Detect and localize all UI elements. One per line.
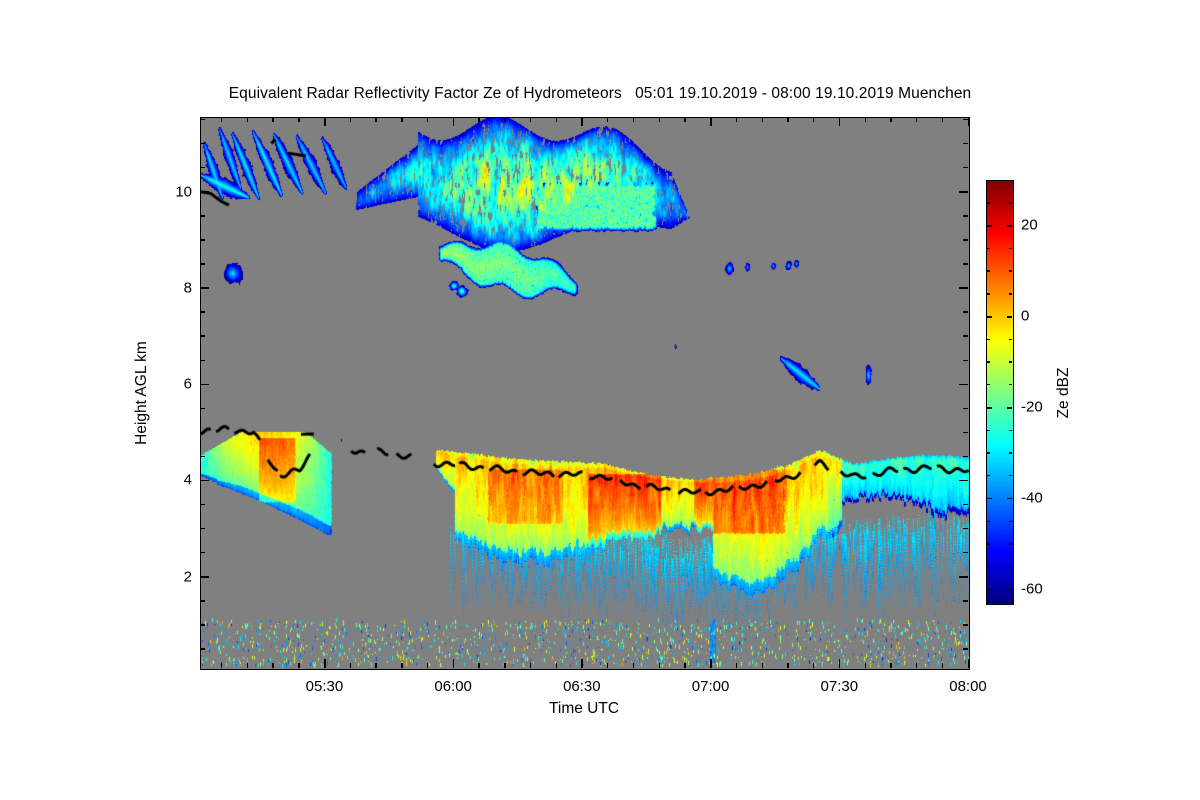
y-tick-major — [200, 384, 209, 386]
colorbar-tick-left — [987, 589, 992, 591]
y-tick-label: 6 — [184, 376, 192, 393]
colorbar-tick-left — [987, 316, 992, 318]
x-tick-minor-top — [530, 117, 531, 122]
x-tick-minor-top — [221, 117, 222, 122]
y-tick-minor-right — [963, 456, 968, 457]
colorbar-tick — [1007, 498, 1012, 500]
x-tick-minor — [659, 663, 660, 668]
colorbar-tick-minor — [1009, 430, 1012, 431]
x-tick-minor — [247, 663, 248, 668]
x-tick-minor-top — [350, 117, 351, 122]
x-tick-label: 05:30 — [306, 678, 344, 695]
colorbar-tick-minor-left — [987, 521, 990, 522]
x-tick-minor-top — [865, 117, 866, 122]
colorbar-tick-minor — [1009, 339, 1012, 340]
x-tick-minor-top — [813, 117, 814, 122]
y-tick-minor — [200, 311, 205, 312]
y-tick-minor — [200, 624, 205, 625]
colorbar-tick-label: 0 — [1021, 308, 1029, 325]
y-tick-minor — [200, 239, 205, 240]
colorbar-tick-left — [987, 498, 992, 500]
y-tick-minor-right — [963, 432, 968, 433]
y-tick-minor-right — [963, 408, 968, 409]
colorbar-tick-minor-left — [987, 180, 990, 181]
y-tick-minor-right — [963, 239, 968, 240]
x-tick-minor — [221, 663, 222, 668]
x-tick-minor-top — [710, 117, 711, 122]
x-tick-minor — [272, 663, 273, 668]
x-tick-minor-top — [324, 117, 325, 122]
colorbar-tick-minor — [1009, 521, 1012, 522]
y-tick-label: 8 — [184, 279, 192, 296]
y-tick-major-right — [959, 287, 968, 289]
y-tick-minor — [200, 215, 205, 216]
x-tick-minor — [839, 663, 840, 668]
y-tick-major — [200, 287, 209, 289]
y-tick-minor-right — [963, 648, 968, 649]
y-tick-minor — [200, 119, 205, 120]
colorbar-tick-minor — [1009, 361, 1012, 362]
x-tick-minor-top — [453, 117, 454, 122]
colorbar-tick-minor — [1009, 270, 1012, 271]
colorbar-tick-label: -60 — [1021, 581, 1043, 598]
x-tick-minor — [478, 663, 479, 668]
y-tick-minor-right — [963, 600, 968, 601]
y-tick-minor-right — [963, 504, 968, 505]
x-tick-minor — [530, 663, 531, 668]
x-tick-minor-top — [968, 117, 969, 122]
x-tick-minor-top — [839, 117, 840, 122]
colorbar-tick-minor-left — [987, 543, 990, 544]
colorbar — [986, 180, 1014, 605]
x-axis-title: Time UTC — [549, 700, 619, 718]
y-tick-minor — [200, 263, 205, 264]
x-tick-minor — [684, 663, 685, 668]
y-tick-minor-right — [963, 624, 968, 625]
y-tick-minor — [200, 167, 205, 168]
x-tick-minor-top — [375, 117, 376, 122]
colorbar-tick-minor-left — [987, 248, 990, 249]
colorbar-tick-left — [987, 407, 992, 409]
y-tick-minor — [200, 504, 205, 505]
y-tick-minor-right — [963, 143, 968, 144]
y-tick-major — [200, 191, 209, 193]
x-tick-minor — [427, 663, 428, 668]
y-tick-major — [200, 480, 209, 482]
x-tick-minor — [736, 663, 737, 668]
x-tick-minor — [324, 663, 325, 668]
x-tick-minor — [710, 663, 711, 668]
colorbar-tick-minor-left — [987, 384, 990, 385]
x-tick-minor — [556, 663, 557, 668]
x-tick-minor — [504, 663, 505, 668]
reflectivity-heatmap-canvas — [201, 118, 969, 669]
y-tick-minor — [200, 600, 205, 601]
colorbar-tick-minor — [1009, 180, 1012, 181]
y-tick-minor — [200, 648, 205, 649]
colorbar-tick-minor-left — [987, 430, 990, 431]
x-tick-minor — [453, 663, 454, 668]
colorbar-tick-minor-left — [987, 452, 990, 453]
x-tick-label: 06:30 — [563, 678, 601, 695]
colorbar-tick-minor — [1009, 475, 1012, 476]
x-tick-minor — [865, 663, 866, 668]
y-tick-minor-right — [963, 167, 968, 168]
y-tick-minor-right — [963, 263, 968, 264]
colorbar-tick — [1007, 225, 1012, 227]
radar-reflectivity-figure: Equivalent Radar Reflectivity Factor Ze … — [0, 0, 1200, 800]
x-tick-minor — [890, 663, 891, 668]
colorbar-tick-minor-left — [987, 293, 990, 294]
x-tick-minor-top — [916, 117, 917, 122]
x-tick-minor — [607, 663, 608, 668]
colorbar-tick-label: -20 — [1021, 399, 1043, 416]
colorbar-tick-left — [987, 225, 992, 227]
x-tick-minor-top — [427, 117, 428, 122]
colorbar-tick-minor — [1009, 452, 1012, 453]
y-tick-major-right — [959, 480, 968, 482]
colorbar-tick-minor — [1009, 202, 1012, 203]
chart-title: Equivalent Radar Reflectivity Factor Ze … — [0, 85, 1200, 103]
colorbar-tick-minor-left — [987, 339, 990, 340]
x-tick-minor — [813, 663, 814, 668]
x-tick-minor-top — [762, 117, 763, 122]
x-tick-label: 08:00 — [949, 678, 987, 695]
y-tick-minor-right — [963, 528, 968, 529]
colorbar-tick-minor-left — [987, 270, 990, 271]
x-tick-minor — [916, 663, 917, 668]
x-tick-minor-top — [659, 117, 660, 122]
x-tick-minor-top — [581, 117, 582, 122]
y-tick-label: 10 — [175, 183, 192, 200]
x-tick-minor-top — [942, 117, 943, 122]
colorbar-tick — [1007, 589, 1012, 591]
colorbar-tick — [1007, 316, 1012, 318]
x-tick-minor-top — [478, 117, 479, 122]
x-tick-minor — [581, 663, 582, 668]
colorbar-gradient — [987, 181, 1013, 604]
x-tick-minor-top — [787, 117, 788, 122]
x-tick-minor-top — [684, 117, 685, 122]
x-tick-minor-top — [401, 117, 402, 122]
colorbar-tick-minor — [1009, 248, 1012, 249]
colorbar-tick-minor — [1009, 384, 1012, 385]
y-tick-minor-right — [963, 335, 968, 336]
x-tick-label: 06:00 — [434, 678, 472, 695]
y-tick-major-right — [959, 576, 968, 578]
colorbar-tick-minor-left — [987, 566, 990, 567]
colorbar-tick-minor-left — [987, 475, 990, 476]
x-tick-minor — [401, 663, 402, 668]
x-tick-minor-top — [736, 117, 737, 122]
y-tick-major-right — [959, 191, 968, 193]
y-tick-minor-right — [963, 360, 968, 361]
y-tick-minor — [200, 432, 205, 433]
y-tick-label: 2 — [184, 568, 192, 585]
x-tick-minor — [787, 663, 788, 668]
y-tick-minor — [200, 143, 205, 144]
colorbar-tick-label: 20 — [1021, 217, 1038, 234]
y-axis-title: Height AGL km — [133, 341, 151, 445]
colorbar-tick-minor — [1009, 293, 1012, 294]
plot-area — [200, 117, 970, 670]
x-tick-minor-top — [247, 117, 248, 122]
x-tick-minor-top — [298, 117, 299, 122]
x-tick-minor-top — [633, 117, 634, 122]
x-tick-label: 07:30 — [821, 678, 859, 695]
colorbar-tick-label: -40 — [1021, 490, 1043, 507]
y-tick-minor-right — [963, 215, 968, 216]
x-tick-minor — [298, 663, 299, 668]
x-tick-minor — [968, 663, 969, 668]
colorbar-tick-minor-left — [987, 361, 990, 362]
x-tick-minor — [350, 663, 351, 668]
x-tick-minor — [633, 663, 634, 668]
y-tick-major-right — [959, 384, 968, 386]
x-tick-minor-top — [272, 117, 273, 122]
y-tick-minor — [200, 360, 205, 361]
y-tick-minor — [200, 408, 205, 409]
colorbar-tick — [1007, 407, 1012, 409]
x-tick-minor-top — [504, 117, 505, 122]
y-tick-minor-right — [963, 552, 968, 553]
x-tick-minor — [375, 663, 376, 668]
x-tick-label: 07:00 — [692, 678, 730, 695]
y-tick-minor — [200, 456, 205, 457]
y-tick-major — [200, 576, 209, 578]
x-tick-minor-top — [556, 117, 557, 122]
y-tick-minor-right — [963, 311, 968, 312]
x-tick-minor-top — [607, 117, 608, 122]
x-tick-minor — [762, 663, 763, 668]
y-tick-minor — [200, 528, 205, 529]
y-tick-label: 4 — [184, 472, 192, 489]
colorbar-tick-minor-left — [987, 202, 990, 203]
y-tick-minor — [200, 335, 205, 336]
colorbar-tick-minor — [1009, 543, 1012, 544]
y-tick-minor — [200, 552, 205, 553]
x-tick-minor — [942, 663, 943, 668]
colorbar-tick-minor — [1009, 566, 1012, 567]
x-tick-minor-top — [890, 117, 891, 122]
colorbar-title: Ze dBZ — [1055, 368, 1073, 419]
